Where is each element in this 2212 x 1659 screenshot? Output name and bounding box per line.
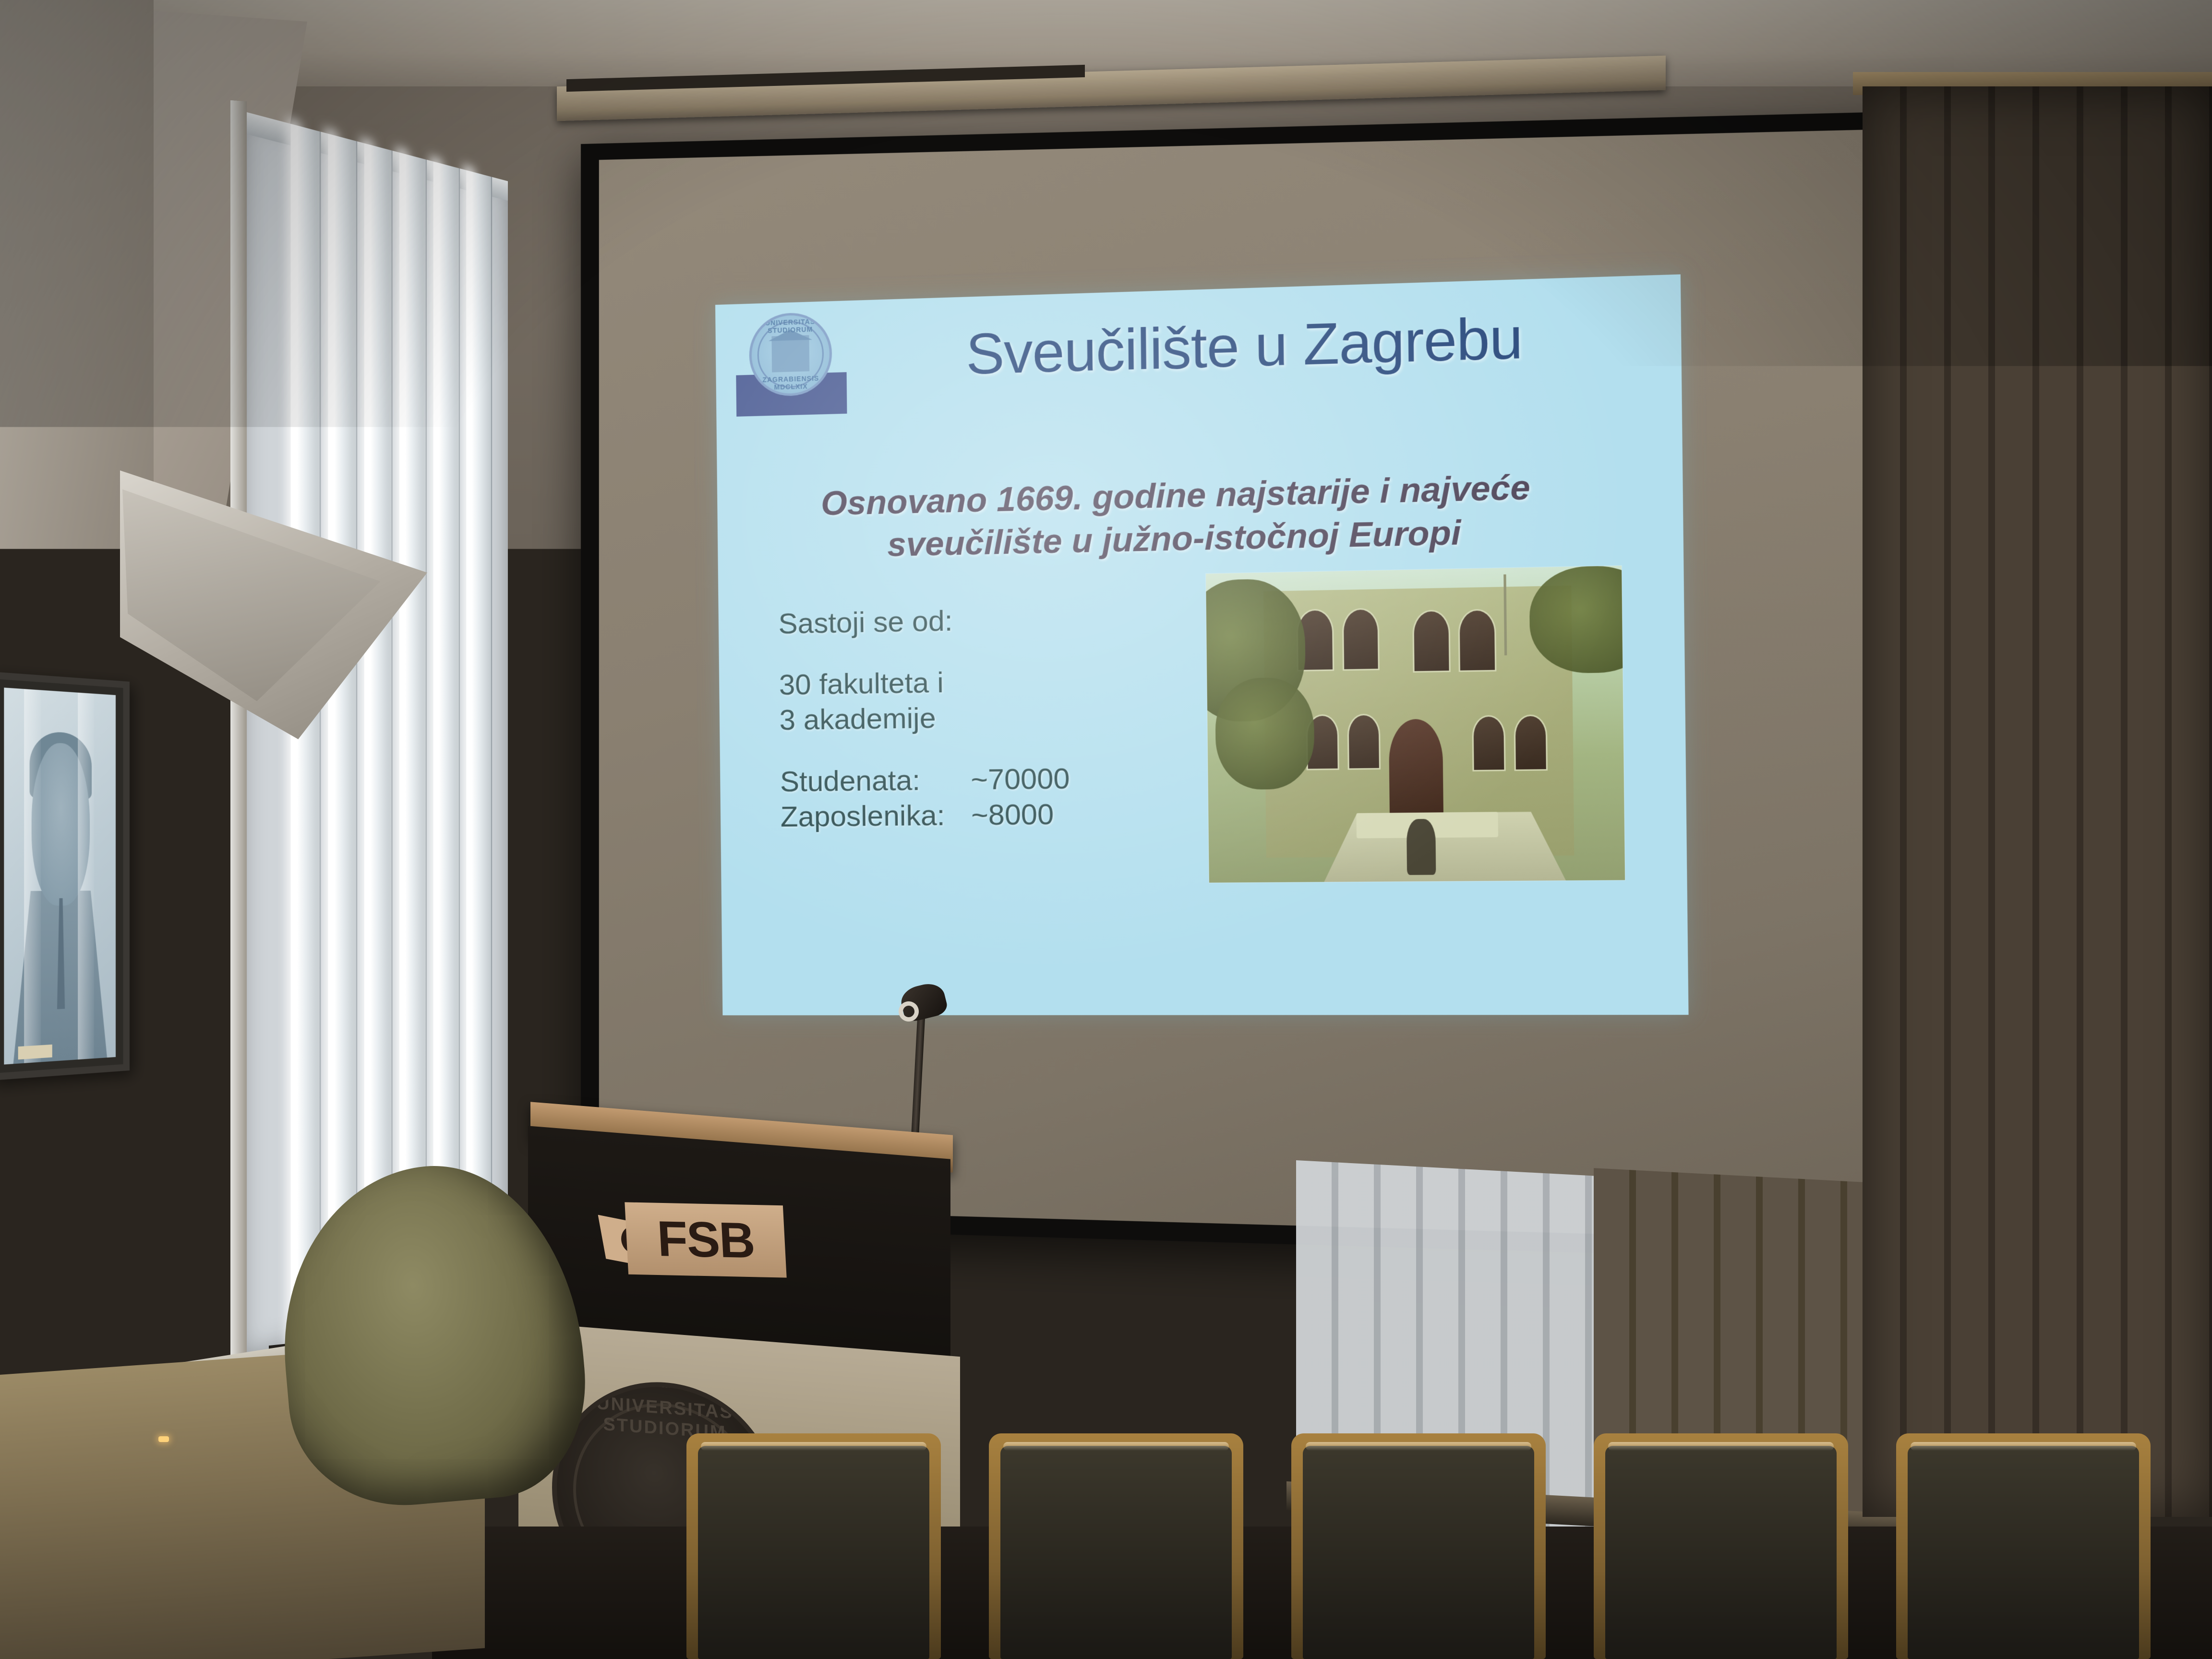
university-seal: UNIVERSITAS STUDIORUM ZAGRABIENSIS MDCLX… bbox=[735, 307, 847, 421]
stat-row-students: Studenata: ~70000 bbox=[780, 759, 1151, 799]
slide-body: Sastoji se od: 30 fakulteta i 3 akademij… bbox=[778, 599, 1151, 834]
table-reflection bbox=[1248, 1603, 2016, 1659]
seal-legend-bottom: ZAGRABIENSIS MDCLXIX bbox=[752, 374, 830, 392]
slide-photo-building bbox=[1206, 565, 1625, 882]
seal-circle: UNIVERSITAS STUDIORUM ZAGRABIENSIS MDCLX… bbox=[749, 312, 832, 397]
lecture-hall-photo: UNIVERSITAS STUDIORUM ZAGRABIENSIS MDCLX… bbox=[0, 0, 2212, 1659]
stat-value-students: ~70000 bbox=[971, 760, 1070, 797]
body-line-1: 30 fakulteta i bbox=[779, 661, 1150, 702]
framed-portrait bbox=[0, 672, 130, 1081]
projected-slide: UNIVERSITAS STUDIORUM ZAGRABIENSIS MDCLX… bbox=[715, 274, 1689, 1015]
stat-value-employees: ~8000 bbox=[971, 796, 1054, 833]
stat-label-employees: Zaposlenika: bbox=[780, 797, 955, 834]
slide-title: Sveučilište u Zagrebu bbox=[908, 306, 1584, 387]
photo-statue bbox=[1406, 819, 1436, 875]
chair-1 bbox=[686, 1433, 941, 1659]
body-line-2: 3 akademije bbox=[779, 697, 1150, 738]
portrait-nameplate bbox=[18, 1045, 52, 1059]
stat-label-students: Studenata: bbox=[780, 762, 955, 799]
slide-subtitle: Osnovano 1669. godine najstarije i najve… bbox=[770, 464, 1586, 568]
photo-entrance bbox=[1389, 719, 1444, 826]
chair-2 bbox=[989, 1433, 1243, 1659]
seal-legend-top: UNIVERSITAS STUDIORUM bbox=[751, 317, 829, 335]
portrait-mat bbox=[4, 687, 116, 1064]
fsb-logo-plaque: FSB bbox=[625, 1202, 786, 1277]
fsb-logo-text: FSB bbox=[656, 1214, 755, 1266]
stat-row-employees: Zaposlenika: ~8000 bbox=[780, 795, 1151, 834]
window-frame bbox=[230, 100, 247, 1397]
body-intro: Sastoji se od: bbox=[778, 599, 1149, 641]
right-window-blinds bbox=[1863, 86, 2212, 1517]
